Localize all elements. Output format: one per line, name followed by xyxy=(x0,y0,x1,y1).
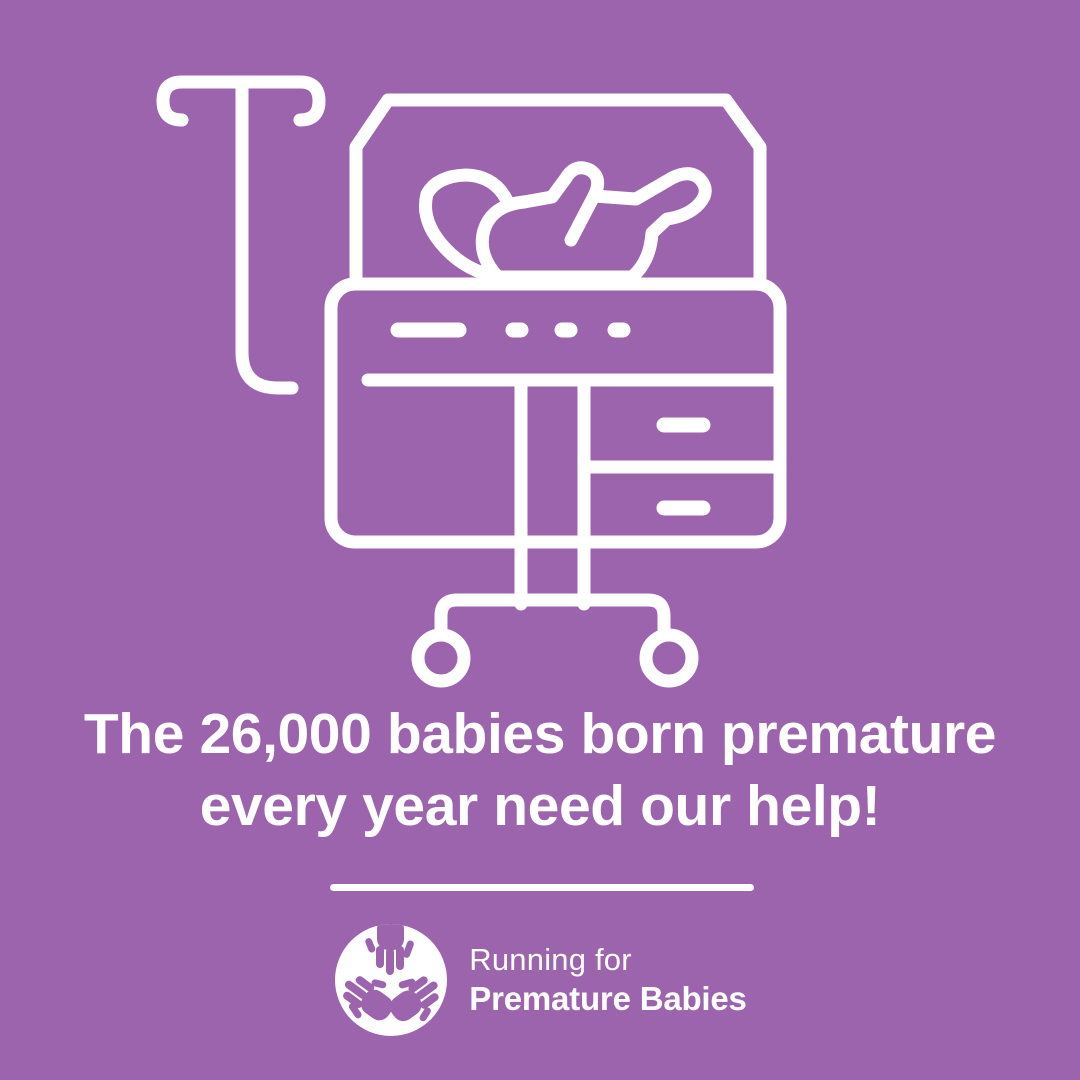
three-handprints-circle-logo-icon xyxy=(333,922,449,1038)
poster-canvas: The 26,000 babies born premature every y… xyxy=(0,0,1080,1080)
page-title: The 26,000 babies born premature every y… xyxy=(0,698,1080,842)
iv-pole-icon xyxy=(163,82,319,388)
wheel-base xyxy=(441,600,664,634)
headline-line-2: every year need our help! xyxy=(0,770,1080,842)
drawer-panel xyxy=(591,425,780,508)
brand-logo-lockup: Running for Premature Babies xyxy=(0,918,1080,1042)
divider-rule xyxy=(330,884,754,891)
brand-wordmark: Running for Premature Babies xyxy=(469,944,746,1017)
wordmark-line-premature-babies: Premature Babies xyxy=(469,982,746,1015)
wheels xyxy=(418,635,692,681)
neonatal-incubator-illustration xyxy=(0,0,1080,700)
baby-figure xyxy=(425,168,705,277)
wordmark-line-running-for: Running for xyxy=(469,944,746,975)
headline-line-1: The 26,000 babies born premature xyxy=(0,698,1080,770)
stem-column xyxy=(521,386,584,604)
